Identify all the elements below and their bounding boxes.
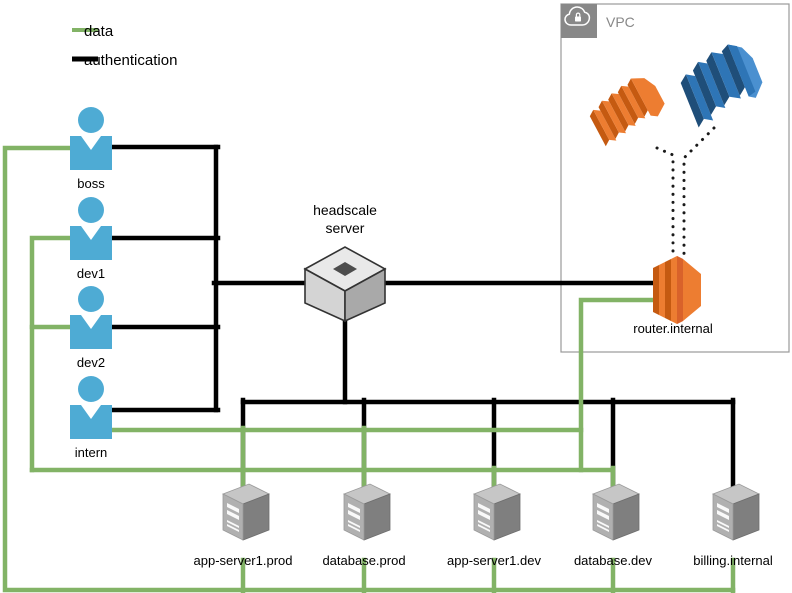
person-icon — [70, 286, 112, 349]
server-icon — [713, 484, 759, 540]
node-label-database-dev: database.dev — [574, 553, 653, 568]
actor-label-dev1: dev1 — [77, 266, 105, 281]
node-database-dev[interactable]: database.dev — [574, 484, 653, 568]
node-headscale-server[interactable]: headscale server — [305, 202, 385, 321]
server-icon — [593, 484, 639, 540]
server-icon — [474, 484, 520, 540]
person-icon — [70, 197, 112, 260]
person-icon — [70, 107, 112, 170]
node-billing-internal[interactable]: billing.internal — [693, 484, 773, 568]
headscale-label-line1: headscale — [313, 202, 377, 218]
node-label-app-server1-prod: app-server1.prod — [194, 553, 293, 568]
actor-boss[interactable]: boss — [70, 107, 112, 191]
node-label-router-internal: router.internal — [633, 321, 713, 336]
actor-label-boss: boss — [77, 176, 105, 191]
network-topology-svg: VPC — [0, 0, 792, 593]
server-icon — [223, 484, 269, 540]
node-label-app-server1-dev: app-server1.dev — [447, 553, 541, 568]
legend: data authentication — [72, 23, 177, 69]
headscale-label-line2: server — [326, 220, 365, 236]
node-app-server1-prod[interactable]: app-server1.prod — [194, 484, 293, 568]
node-label-database-prod: database.prod — [322, 553, 405, 568]
legend-item-data: data — [72, 23, 114, 40]
legend-label-data: data — [84, 23, 114, 40]
cube-icon — [305, 247, 385, 321]
legend-label-authentication: authentication — [84, 52, 177, 69]
node-app-server1-dev[interactable]: app-server1.dev — [447, 484, 541, 568]
actor-dev2[interactable]: dev2 — [70, 286, 112, 370]
node-database-prod[interactable]: database.prod — [322, 484, 405, 568]
data-link-dev1 — [32, 238, 70, 470]
node-label-billing-internal: billing.internal — [693, 553, 773, 568]
actor-label-dev2: dev2 — [77, 355, 105, 370]
actor-intern[interactable]: intern — [70, 376, 112, 460]
server-icon — [344, 484, 390, 540]
legend-item-authentication: authentication — [72, 52, 177, 69]
architecture-diagram-canvas: VPC — [0, 0, 792, 593]
actor-dev1[interactable]: dev1 — [70, 197, 112, 281]
person-icon — [70, 376, 112, 439]
vpc-label: VPC — [606, 14, 635, 30]
actor-label-intern: intern — [75, 445, 108, 460]
